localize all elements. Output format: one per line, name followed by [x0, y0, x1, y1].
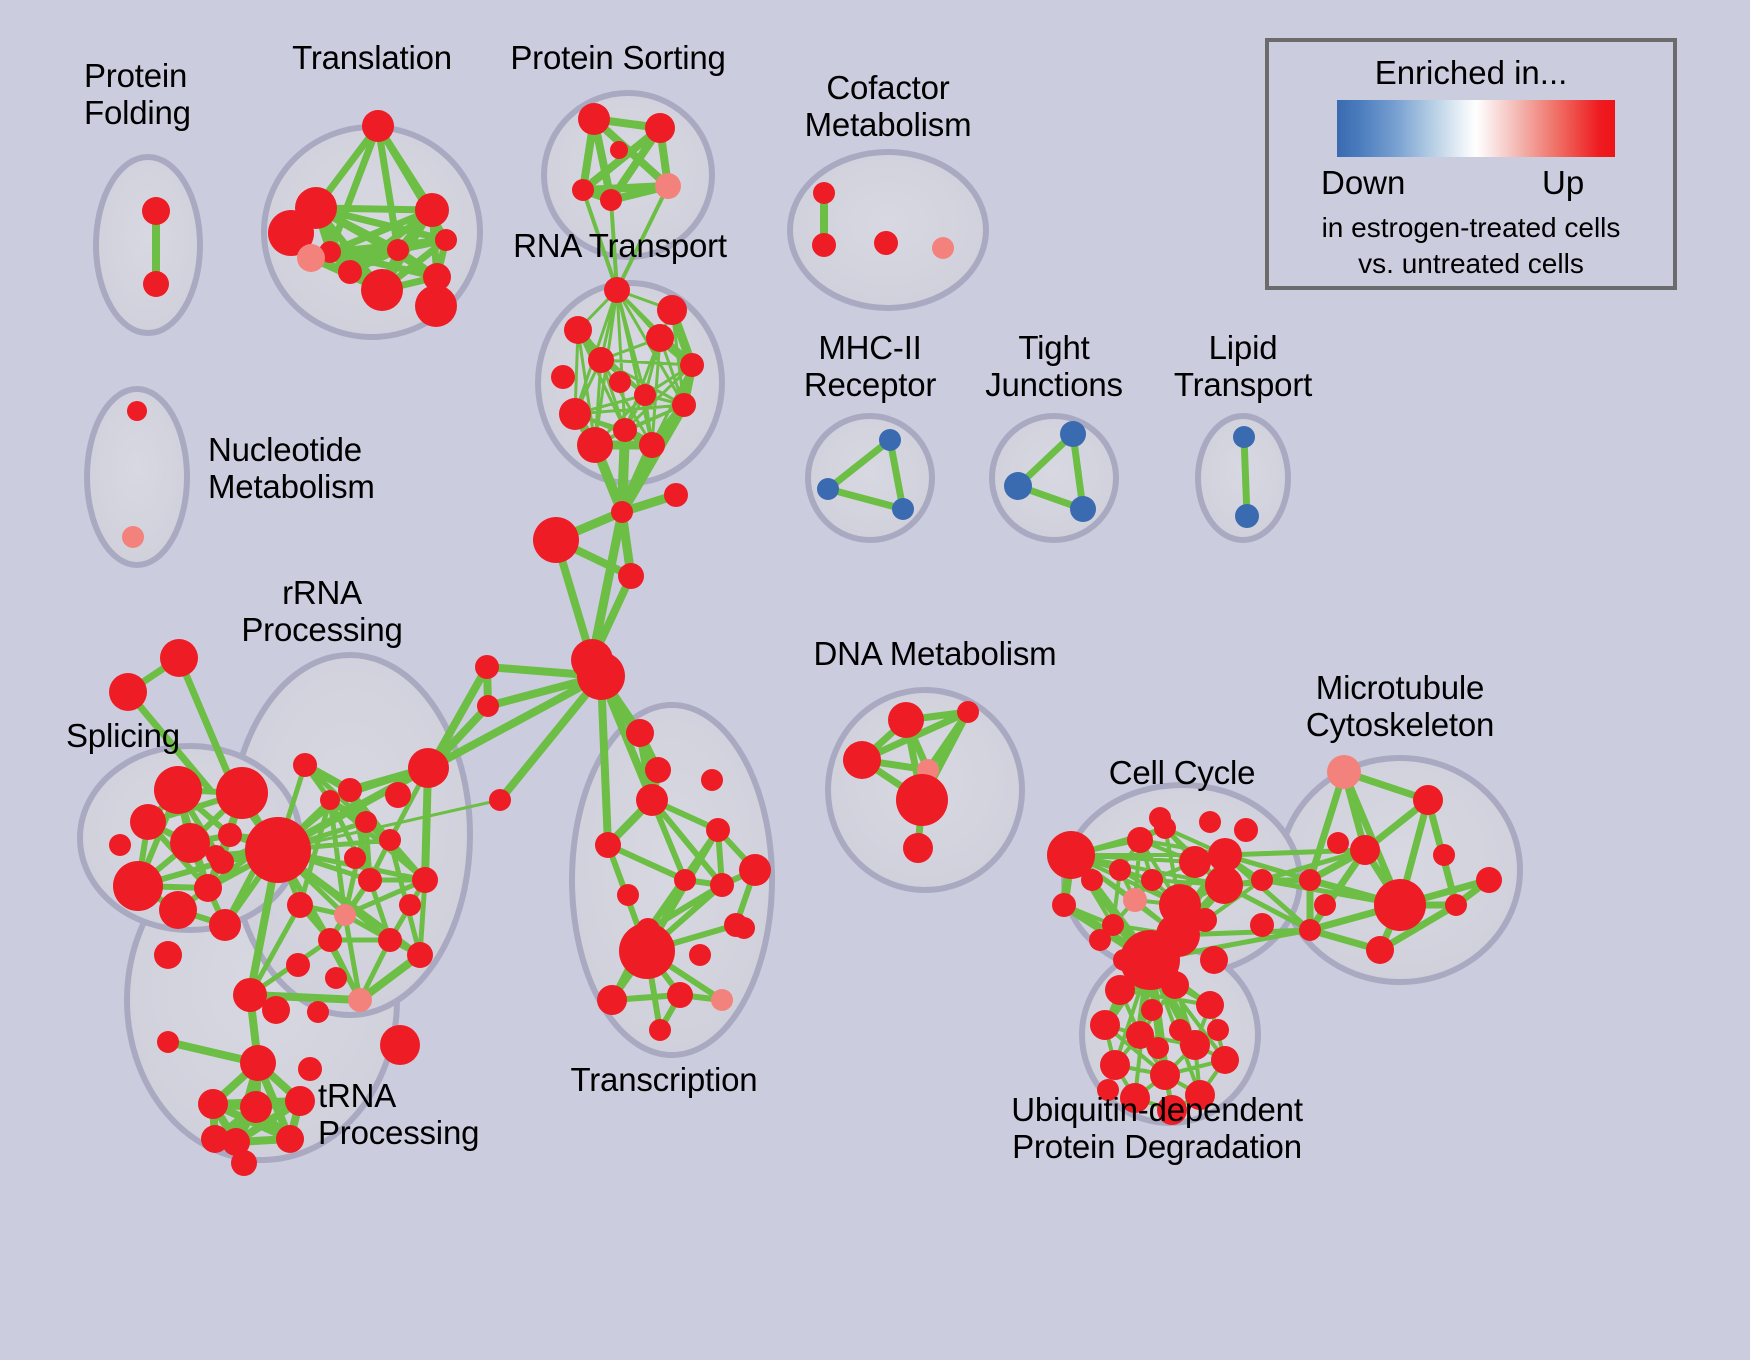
node: [1193, 908, 1217, 932]
cluster-label-mhc-ii-receptor: MHC-II Receptor: [804, 330, 936, 404]
node: [286, 953, 310, 977]
cluster-label-nucleotide-metabolism: Nucleotide Metabolism: [208, 432, 375, 506]
legend-low-label: Down: [1321, 164, 1405, 202]
node: [216, 767, 268, 819]
node: [1299, 869, 1321, 891]
node: [604, 277, 630, 303]
node: [122, 526, 144, 548]
node: [577, 427, 613, 463]
node: [1235, 504, 1259, 528]
node: [572, 179, 594, 201]
node: [672, 393, 696, 417]
cluster-label-transcription: Transcription: [571, 1062, 758, 1099]
node: [1299, 919, 1321, 941]
node: [733, 917, 755, 939]
node: [387, 239, 409, 261]
node: [1150, 1060, 1180, 1090]
node: [154, 766, 202, 814]
node: [1141, 999, 1163, 1021]
node: [903, 833, 933, 863]
node: [1113, 949, 1135, 971]
cluster-label-protein-sorting: Protein Sorting: [510, 40, 725, 77]
node: [1090, 1010, 1120, 1040]
node: [1207, 1019, 1229, 1041]
node: [817, 478, 839, 500]
cluster-label-splicing: Splicing: [66, 718, 180, 755]
node: [1161, 971, 1189, 999]
node: [1109, 859, 1131, 881]
node: [355, 811, 377, 833]
node: [1052, 893, 1076, 917]
node: [154, 941, 182, 969]
cluster-label-microtubule-cytoskeleton: Microtubule Cytoskeleton: [1306, 670, 1494, 744]
node: [1089, 929, 1111, 951]
cluster-label-cell-cycle: Cell Cycle: [1109, 755, 1256, 792]
node: [109, 673, 147, 711]
node: [1205, 866, 1243, 904]
node: [600, 189, 622, 211]
node: [109, 834, 131, 856]
node: [233, 978, 267, 1012]
node: [358, 868, 382, 892]
node: [879, 429, 901, 451]
node: [657, 295, 687, 325]
node: [618, 563, 644, 589]
node: [597, 985, 627, 1015]
node: [170, 823, 210, 863]
node: [127, 401, 147, 421]
cluster-label-lipid-transport: Lipid Transport: [1174, 330, 1312, 404]
cluster-label-tight-junctions: Tight Junctions: [985, 330, 1123, 404]
node: [655, 173, 681, 199]
node: [344, 847, 366, 869]
node: [435, 229, 457, 251]
node: [338, 260, 362, 284]
node: [218, 823, 242, 847]
node: [613, 418, 637, 442]
node: [285, 1086, 315, 1116]
node: [1141, 869, 1163, 891]
node: [307, 1001, 329, 1023]
node: [667, 982, 693, 1008]
node: [896, 774, 948, 826]
node: [617, 884, 639, 906]
node: [578, 103, 610, 135]
node: [892, 498, 914, 520]
node: [1413, 785, 1443, 815]
node: [293, 753, 317, 777]
node: [1004, 472, 1032, 500]
node: [626, 719, 654, 747]
node: [595, 832, 621, 858]
node: [1060, 421, 1086, 447]
node: [645, 113, 675, 143]
node: [1250, 913, 1274, 937]
node: [634, 384, 656, 406]
legend-title: Enriched in...: [1269, 54, 1673, 92]
legend-high-label: Up: [1542, 164, 1584, 202]
node: [276, 1125, 304, 1153]
node: [1149, 807, 1171, 829]
node: [1234, 818, 1258, 842]
node: [325, 967, 347, 989]
node: [477, 695, 499, 717]
cluster-label-translation: Translation: [292, 40, 452, 77]
node: [415, 193, 449, 227]
node: [1445, 894, 1467, 916]
node: [649, 1019, 671, 1041]
node: [739, 854, 771, 886]
node: [636, 784, 668, 816]
legend-panel: Enriched in... Down Up in estrogen-treat…: [1265, 38, 1677, 290]
node: [874, 231, 898, 255]
node: [610, 141, 628, 159]
node: [287, 892, 313, 918]
node: [245, 817, 311, 883]
node: [1350, 835, 1380, 865]
legend-subtitle-line-2: vs. untreated cells: [1269, 248, 1673, 280]
node: [113, 861, 163, 911]
node: [1251, 869, 1273, 891]
node: [1374, 879, 1426, 931]
node: [1127, 827, 1153, 853]
hull-protein-folding: [96, 157, 200, 333]
node: [206, 845, 226, 865]
node: [1233, 426, 1255, 448]
node: [664, 483, 688, 507]
node: [1105, 975, 1135, 1005]
node: [130, 804, 166, 840]
node: [1070, 496, 1096, 522]
node: [812, 233, 836, 257]
node: [1200, 946, 1228, 974]
cluster-label-dna-metabolism: DNA Metabolism: [814, 636, 1057, 673]
node: [194, 874, 222, 902]
node: [385, 782, 411, 808]
node: [711, 989, 733, 1011]
node: [843, 741, 881, 779]
node: [674, 869, 696, 891]
node: [1199, 811, 1221, 833]
cluster-label-rna-transport: RNA Transport: [513, 228, 727, 265]
node: [489, 789, 511, 811]
node: [240, 1045, 276, 1081]
node: [619, 923, 675, 979]
node: [1179, 846, 1211, 878]
node: [1476, 867, 1502, 893]
node: [379, 829, 401, 851]
node: [609, 371, 631, 393]
node: [888, 702, 924, 738]
node: [559, 398, 591, 430]
node: [231, 1150, 257, 1176]
node: [957, 701, 979, 723]
hull-cofactor-metabolism: [790, 152, 986, 308]
node: [142, 197, 170, 225]
node: [1327, 755, 1361, 789]
node: [1081, 869, 1103, 891]
node: [577, 652, 625, 700]
node: [689, 944, 711, 966]
node: [645, 757, 671, 783]
node: [1100, 1050, 1130, 1080]
node: [262, 996, 290, 1024]
node: [411, 749, 449, 787]
cluster-label-rrna-processing: rRNA Processing: [241, 575, 402, 649]
legend-color-gradient-bar: [1337, 100, 1615, 157]
node: [1169, 1019, 1191, 1041]
node: [680, 353, 704, 377]
node: [297, 244, 325, 272]
node: [701, 769, 723, 791]
node: [159, 891, 197, 929]
node: [399, 894, 421, 916]
node: [1123, 888, 1147, 912]
node: [1433, 844, 1455, 866]
node: [475, 655, 499, 679]
cluster-label-ubiquitin-protein-degradation: Ubiquitin-dependent Protein Degradation: [1011, 1092, 1303, 1166]
node: [611, 501, 633, 523]
node: [813, 182, 835, 204]
node: [1314, 894, 1336, 916]
node: [706, 818, 730, 842]
node: [415, 285, 457, 327]
node: [240, 1091, 272, 1123]
node: [932, 237, 954, 259]
cluster-label-cofactor-metabolism: Cofactor Metabolism: [805, 70, 972, 144]
node: [143, 271, 169, 297]
node: [361, 269, 403, 311]
node: [1211, 1046, 1239, 1074]
node: [1327, 832, 1349, 854]
node: [407, 942, 433, 968]
node: [378, 928, 402, 952]
node: [588, 347, 614, 373]
node: [209, 909, 241, 941]
node: [198, 1089, 228, 1119]
cluster-label-trna-processing: tRNA Processing: [318, 1078, 479, 1152]
node: [551, 365, 575, 389]
node: [412, 867, 438, 893]
node: [1366, 936, 1394, 964]
node: [646, 324, 674, 352]
node: [348, 988, 372, 1012]
node: [157, 1031, 179, 1053]
node: [362, 110, 394, 142]
node: [380, 1025, 420, 1065]
node: [318, 928, 342, 952]
node: [564, 316, 592, 344]
node: [160, 639, 198, 677]
node: [320, 790, 340, 810]
node: [338, 778, 362, 802]
node: [639, 432, 665, 458]
legend-subtitle-line-1: in estrogen-treated cells: [1269, 212, 1673, 244]
node: [334, 904, 356, 926]
node: [1147, 1037, 1169, 1059]
hull-mhc-ii-receptor: [808, 416, 932, 540]
cluster-label-protein-folding: Protein Folding: [84, 58, 191, 132]
node: [533, 517, 579, 563]
node: [1196, 991, 1224, 1019]
node: [710, 873, 734, 897]
enrichment-map-figure: Protein Folding Translation Protein Sort…: [0, 0, 1750, 1360]
